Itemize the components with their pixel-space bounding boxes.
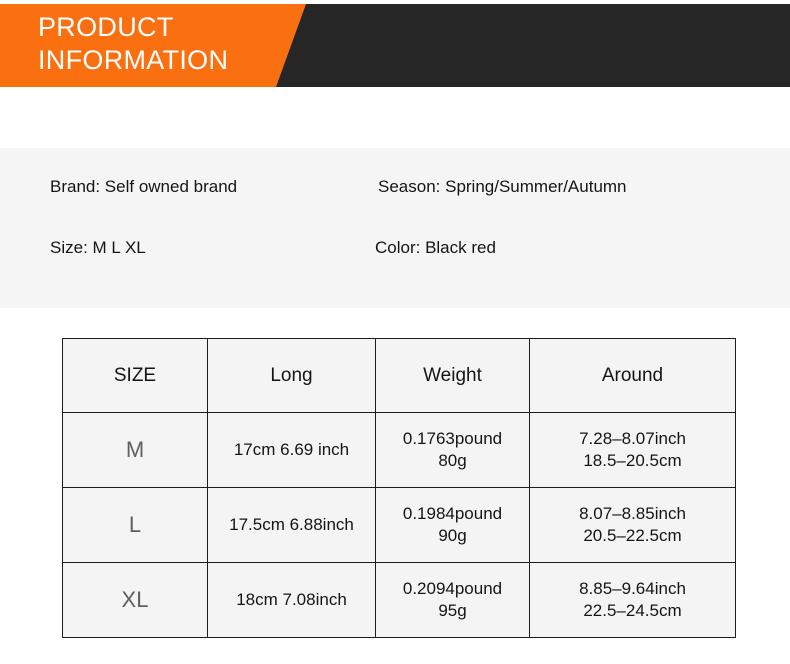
column-header-long: Long: [208, 339, 376, 413]
cell-size: L: [63, 488, 208, 563]
cell-around: 8.07–8.85inch 20.5–22.5cm: [530, 488, 736, 563]
cell-size: M: [63, 413, 208, 488]
cell-weight: 0.1984pound 90g: [376, 488, 530, 563]
info-color: Color: Black red: [375, 238, 496, 258]
table-row: M 17cm 6.69 inch 0.1763pound 80g 7.28–8.…: [63, 413, 736, 488]
column-header-size: SIZE: [63, 339, 208, 413]
product-information-banner: PRODUCT INFORMATION: [0, 4, 790, 87]
cell-weight: 0.2094pound 95g: [376, 563, 530, 638]
column-header-weight: Weight: [376, 339, 530, 413]
table-row: XL 18cm 7.08inch 0.2094pound 95g 8.85–9.…: [63, 563, 736, 638]
table-row: L 17.5cm 6.88inch 0.1984pound 90g 8.07–8…: [63, 488, 736, 563]
info-brand: Brand: Self owned brand: [50, 177, 237, 197]
cell-long: 17cm 6.69 inch: [208, 413, 376, 488]
info-season: Season: Spring/Summer/Autumn: [378, 177, 627, 197]
product-info-panel: Brand: Self owned brand Season: Spring/S…: [0, 148, 790, 308]
cell-long: 18cm 7.08inch: [208, 563, 376, 638]
cell-around: 8.85–9.64inch 22.5–24.5cm: [530, 563, 736, 638]
cell-long: 17.5cm 6.88inch: [208, 488, 376, 563]
info-size: Size: M L XL: [50, 238, 146, 258]
banner-title: PRODUCT INFORMATION: [38, 11, 228, 77]
size-chart-table: SIZE Long Weight Around M 17cm 6.69 inch…: [62, 338, 736, 638]
table-header-row: SIZE Long Weight Around: [63, 339, 736, 413]
cell-around: 7.28–8.07inch 18.5–20.5cm: [530, 413, 736, 488]
column-header-around: Around: [530, 339, 736, 413]
cell-size: XL: [63, 563, 208, 638]
cell-weight: 0.1763pound 80g: [376, 413, 530, 488]
